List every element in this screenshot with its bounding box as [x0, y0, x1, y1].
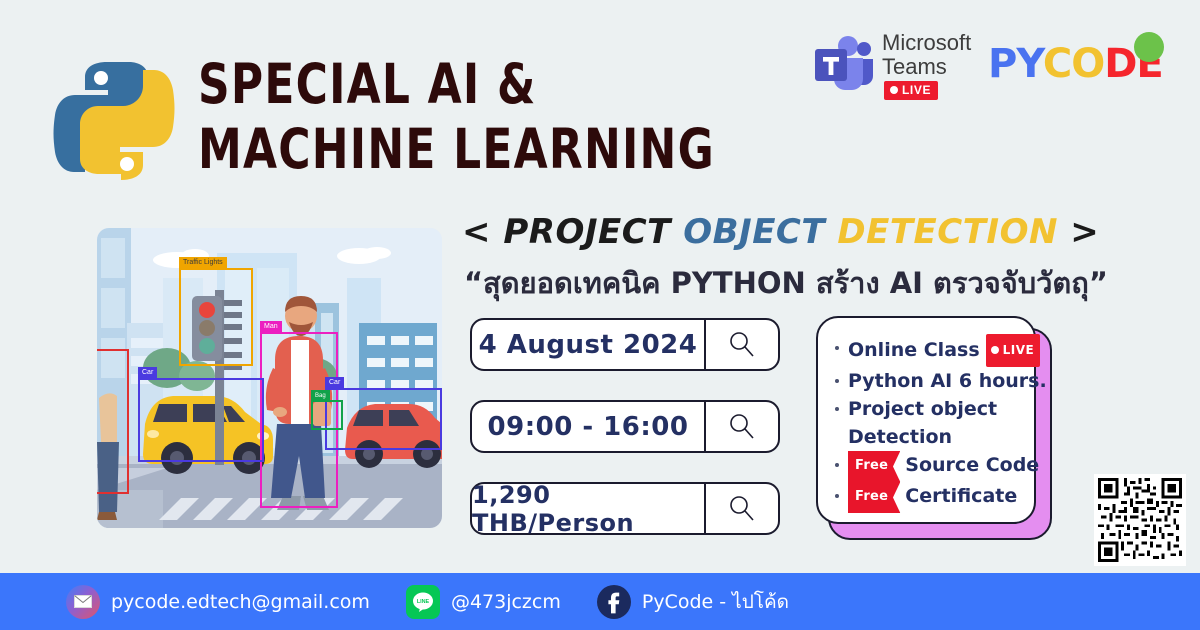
footer-facebook[interactable]: PyCode - ไปโค้ด: [597, 585, 789, 619]
feature-item: Online ClassLIVE: [834, 334, 1022, 367]
feature-item-label: Online Class: [848, 339, 980, 361]
footer-line[interactable]: LINE @473jczcm: [406, 585, 561, 619]
teams-icon: [812, 34, 874, 90]
features-list: Online ClassLIVEPython AI 6 hours.Projec…: [834, 334, 1022, 513]
feature-item: Project object: [834, 395, 1022, 423]
pycode-part-1: PY: [988, 41, 1043, 87]
line-icon: LINE: [406, 585, 440, 619]
teams-line-2: Teams: [882, 55, 971, 79]
project-word-3: DETECTION: [837, 212, 1058, 252]
bbox-traffic-lights: [179, 268, 253, 366]
teams-wordmark: Microsoft Teams: [882, 31, 971, 79]
svg-text:LINE: LINE: [417, 599, 430, 605]
footer-facebook-text: PyCode - ไปโค้ด: [642, 587, 789, 617]
pill-time-value: 09:00 - 16:00: [472, 402, 704, 451]
bbox-label-car-right: Car: [325, 377, 344, 389]
bbox-label-traffic-lights: Traffic Lights: [179, 257, 227, 269]
bracket-open: <: [462, 212, 491, 252]
pycode-green-dot-icon: [1134, 32, 1164, 62]
teams-line-1: Microsoft: [882, 31, 971, 55]
pill-date-value: 4 August 2024: [472, 320, 704, 369]
feature-item-label: Source Code: [905, 454, 1039, 476]
bbox-label-man: Man: [260, 321, 282, 333]
project-subtitle: “สุดยอดเทคนิค PYTHON สร้าง AI ตรวจจับวัต…: [464, 260, 1108, 306]
footer-email[interactable]: pycode.edtech@gmail.com: [66, 585, 370, 619]
project-headline: < PROJECT OBJECT DETECTION >: [462, 212, 1099, 252]
bracket-close: >: [1070, 212, 1099, 252]
feature-live-badge: LIVE: [986, 334, 1041, 367]
contact-footer: pycode.edtech@gmail.com LINE @473jczcm P…: [0, 573, 1200, 630]
search-icon[interactable]: [704, 402, 778, 451]
bbox-car-left: [138, 378, 264, 462]
bbox-bag: [311, 400, 343, 430]
project-word-1: PROJECT: [503, 212, 671, 252]
project-word-2: OBJECT: [683, 212, 825, 252]
live-badge-label: LIVE: [902, 83, 931, 97]
title-line-2: MACHINE LEARNING: [198, 117, 715, 182]
feature-item-label: Python AI 6 hours.: [848, 370, 1047, 392]
pycode-part-2: CO: [1043, 41, 1104, 87]
feature-item-label: Detection: [848, 426, 952, 448]
bbox-label-bag: Bag: [311, 390, 330, 402]
free-tag: Free: [848, 482, 900, 513]
pill-price-value: 1,290 THB/Person: [472, 484, 704, 533]
live-dot-icon: [890, 86, 898, 94]
footer-email-text: pycode.edtech@gmail.com: [111, 591, 370, 613]
object-detection-illustration: Traffic Lights Man Car Car Bag: [97, 228, 442, 528]
page-title: SPECIAL AI & MACHINE LEARNING: [198, 52, 844, 182]
facebook-icon: [597, 585, 631, 619]
title-line-1: SPECIAL AI &: [198, 52, 715, 117]
pill-date-body: 4 August 2024: [470, 318, 780, 371]
email-icon: [66, 585, 100, 619]
free-tag: Free: [848, 451, 900, 482]
pill-time-body: 09:00 - 16:00: [470, 400, 780, 453]
feature-live-label: LIVE: [1003, 336, 1035, 364]
qr-code[interactable]: [1094, 474, 1186, 566]
feature-item-label: Certificate: [905, 485, 1017, 507]
feature-item: FreeCertificate: [834, 482, 1022, 513]
feature-item: Python AI 6 hours.: [834, 367, 1022, 395]
bbox-person-left: [97, 349, 129, 494]
banner-canvas: SPECIAL AI & MACHINE LEARNING Microsoft …: [0, 0, 1200, 630]
footer-line-text: @473jczcm: [451, 591, 561, 613]
search-icon[interactable]: [704, 320, 778, 369]
python-logo-icon: [44, 56, 184, 186]
bbox-label-car-left: Car: [138, 367, 157, 379]
feature-item: FreeSource Code: [834, 451, 1022, 482]
feature-item: Detection: [834, 423, 1022, 451]
teams-live-badge: LIVE: [884, 81, 938, 100]
features-box: Online ClassLIVEPython AI 6 hours.Projec…: [816, 316, 1036, 524]
feature-item-label: Project object: [848, 398, 997, 420]
search-icon[interactable]: [704, 484, 778, 533]
live-dot-icon: [991, 346, 999, 354]
pill-price-body: 1,290 THB/Person: [470, 482, 780, 535]
